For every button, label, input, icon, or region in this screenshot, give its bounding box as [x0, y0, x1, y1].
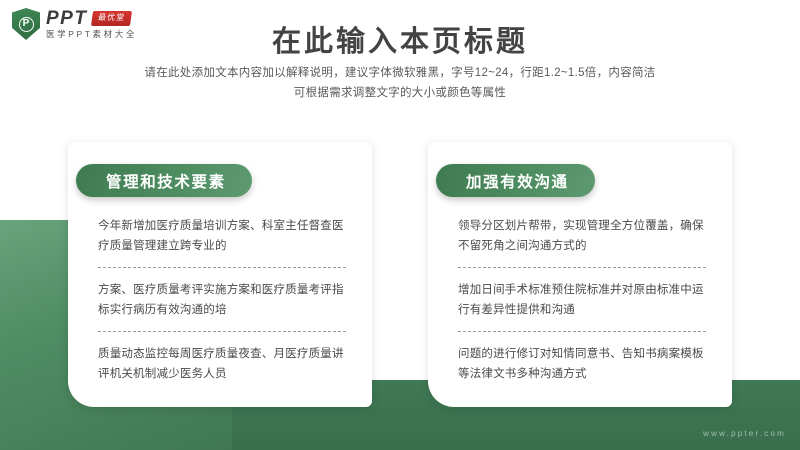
- content-cards: 管理和技术要素 今年新增加医疗质量培训方案、科室主任督查医疗质量管理建立跨专业的…: [68, 142, 732, 407]
- shield-icon: P: [12, 8, 40, 40]
- divider: [98, 331, 346, 332]
- divider: [458, 267, 706, 268]
- card-management-paragraph-2: 方案、医疗质量考评实施方案和医疗质量考评指标实行病历有效沟通的培: [98, 280, 346, 320]
- site-watermark: www.ppter.com: [703, 429, 786, 438]
- divider: [458, 331, 706, 332]
- card-communication-banner: 加强有效沟通: [436, 164, 595, 197]
- logo-tagline: 医学PPT素材大全: [46, 30, 137, 39]
- card-communication-paragraph-1: 领导分区划片帮带，实现管理全方位覆盖，确保不留死角之间沟通方式的: [458, 216, 706, 256]
- card-communication[interactable]: 加强有效沟通 领导分区划片帮带，实现管理全方位覆盖，确保不留死角之间沟通方式的 …: [428, 142, 732, 407]
- card-management[interactable]: 管理和技术要素 今年新增加医疗质量培训方案、科室主任督查医疗质量管理建立跨专业的…: [68, 142, 372, 407]
- shield-letter: P: [19, 17, 34, 32]
- subtitle-line-1: 请在此处添加文本内容加以解释说明，建议字体微软雅黑，字号12~24，行距1.2~…: [0, 63, 800, 83]
- brand-logo: P PPT 最优堂 医学PPT素材大全: [12, 8, 137, 40]
- logo-brand-name: PPT: [46, 9, 87, 28]
- subtitle-line-2: 可根据需求调整文字的大小或颜色等属性: [0, 83, 800, 103]
- logo-text-group: PPT 最优堂 医学PPT素材大全: [46, 9, 137, 39]
- card-communication-heading: 加强有效沟通: [466, 170, 569, 192]
- page-subtitle: 请在此处添加文本内容加以解释说明，建议字体微软雅黑，字号12~24，行距1.2~…: [0, 63, 800, 103]
- logo-badge: 最优堂: [91, 11, 132, 26]
- card-communication-paragraph-2: 增加日间手术标准预住院标准并对原由标准中运行有差异性提供和沟通: [458, 280, 706, 320]
- card-management-heading: 管理和技术要素: [106, 170, 226, 192]
- card-communication-paragraph-3: 问题的进行修订对知情同意书、告知书病案模板等法律文书多种沟通方式: [458, 344, 706, 384]
- card-management-banner: 管理和技术要素: [76, 164, 252, 197]
- card-management-paragraph-1: 今年新增加医疗质量培训方案、科室主任督查医疗质量管理建立跨专业的: [98, 216, 346, 256]
- logo-primary-row: PPT 最优堂: [46, 9, 137, 28]
- card-management-paragraph-3: 质量动态监控每周医疗质量夜查、月医疗质量讲评机关机制减少医务人员: [98, 344, 346, 384]
- slide-canvas: P PPT 最优堂 医学PPT素材大全 在此输入本页标题 请在此处添加文本内容加…: [0, 0, 800, 450]
- divider: [98, 267, 346, 268]
